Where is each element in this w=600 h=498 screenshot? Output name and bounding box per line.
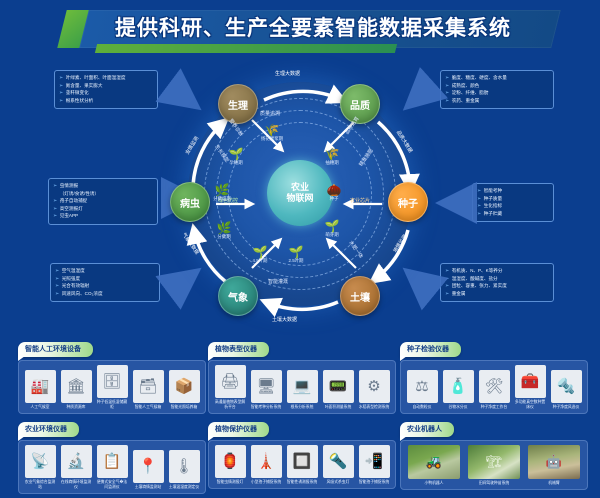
product-item[interactable]: 📟叶面积测量系统: [322, 370, 355, 410]
product-panel: 🏭人工气候室 🏛种质资源库 🗄种子低温低湿储藏柜 🗃智能人工气候箱 📦智能光照培…: [18, 360, 206, 414]
product-group-title: 植物表型仪器: [208, 342, 269, 357]
product-thumb: 📡: [25, 445, 56, 478]
product-thumb: 🧰: [515, 365, 546, 398]
node-weather[interactable]: 气象: [218, 276, 258, 316]
product-thumb: 🏭: [25, 370, 56, 403]
product-group-agri-robots: 农业机器人 🚜小鸭机器人 🏗田间驾驶种苗系统 🤖机械臂: [400, 418, 588, 490]
product-thumb: 🖨: [215, 365, 246, 398]
node-soil[interactable]: 土壤: [340, 276, 380, 316]
stage-label: 抽穗期: [325, 160, 338, 165]
flow-label-quality-trace: 质量追溯: [260, 110, 280, 117]
product-thumb: 🗄: [97, 365, 128, 398]
product-thumb: 🔬: [61, 445, 92, 478]
node-physiology[interactable]: 生理: [218, 84, 258, 124]
product-caption: 田间驾驶种苗系统: [467, 481, 521, 486]
product-group-title: 植物保护仪器: [208, 422, 269, 437]
product-caption: 水稻表型检测系统: [358, 405, 391, 410]
product-caption: 风吸式杀虫灯: [322, 480, 355, 485]
product-caption: 人工气候室: [24, 405, 57, 410]
product-item[interactable]: 🛠种子净度工作台: [478, 370, 511, 410]
product-caption: 智能人工气候箱: [132, 405, 165, 410]
stage-tillering-peak: 🌿 分蘖盛期: [202, 184, 242, 202]
product-caption: 智能光照培养箱: [168, 405, 201, 410]
product-item[interactable]: 🔩种子净度风选仪: [550, 370, 583, 410]
product-thumb: 📟: [323, 370, 354, 403]
product-item[interactable]: 🗄种子低温低湿储藏柜: [96, 365, 129, 410]
product-panel: 📡农业气象综合监测站 🔬在线墒情环境监测仪 📋便携式安全气�法问监测仪 📍土壤墒…: [18, 440, 206, 494]
product-thumb: 🗃: [133, 370, 164, 403]
product-caption: 机械臂: [527, 481, 581, 486]
product-item[interactable]: 🏗田间驾驶种苗系统: [467, 445, 521, 486]
product-thumb: 💻: [287, 370, 318, 403]
page-header: 提供科研、生产全要素智能数据采集系统: [0, 0, 600, 58]
product-thumb: 🏗: [468, 445, 520, 479]
product-panel: 🚜小鸭机器人 🏗田间驾驶种苗系统 🤖机械臂: [400, 440, 588, 490]
product-sections: 智能人工环境设备 🏭人工气候室 🏛种质资源库 🗄种子低温低湿储藏柜 🗃智能人工气…: [0, 334, 600, 498]
product-item[interactable]: 🚜小鸭机器人: [407, 445, 461, 486]
product-item[interactable]: 📡农业气象综合监测站: [24, 445, 57, 490]
product-thumb: 📲: [359, 445, 390, 478]
product-caption: 种子净度工作台: [478, 405, 511, 410]
stage-booting: 🌱 孕穗期: [216, 148, 256, 166]
plant-icon: 🌱: [216, 148, 256, 160]
product-thumb: 🗼: [251, 445, 282, 478]
plant-icon: 🌿: [204, 222, 244, 234]
stage-label: 分蘖盛期: [213, 196, 231, 201]
product-group-seed-testing: 种子检验仪器 ⚖自动数粒仪 🧴谷物水分仪 🛠种子净度工作台 🧰多功能真空数种置床…: [400, 338, 588, 414]
product-item[interactable]: 🤖机械臂: [527, 445, 581, 486]
product-caption: 谷物水分仪: [442, 405, 475, 410]
page-title: 提供科研、生产全要素智能数据采集系统: [0, 12, 600, 42]
product-thumb: 🔩: [551, 370, 582, 403]
product-thumb: 🔦: [323, 445, 354, 478]
stage-label: 孕穗期: [229, 160, 242, 165]
product-item[interactable]: 📋便携式安全气�法问监测仪: [96, 445, 129, 490]
product-thumb: 🏮: [215, 445, 246, 478]
product-item[interactable]: ⚖自动数粒仪: [406, 370, 439, 410]
product-item[interactable]: 🖥智能考种分析系统: [250, 370, 283, 410]
stage-label: 种子: [330, 196, 339, 201]
product-caption: 农业气象综合监测站: [24, 480, 57, 490]
stage-tillering: 🌿 分蘖期: [204, 222, 244, 240]
product-caption: 多功能真空数种置床仪: [514, 400, 547, 410]
stage-label: 萌芽期: [325, 232, 338, 237]
stage-label: 扬花灌浆期: [261, 136, 283, 141]
product-thumb: 🔲: [287, 445, 318, 478]
product-item[interactable]: 🔬在线墒情环境监测仪: [60, 445, 93, 490]
product-group-smart-environment: 智能人工环境设备 🏭人工气候室 🏛种质资源库 🗄种子低温低湿储藏柜 🗃智能人工气…: [18, 338, 206, 414]
flow-label-smart-irrigation: 智能灌溉: [268, 278, 288, 285]
product-item[interactable]: 📲智能孢子捕捉系统: [358, 445, 391, 485]
plant-icon: 🌿: [202, 184, 242, 196]
product-item[interactable]: 🏛种质资源库: [60, 370, 93, 410]
product-thumb: 🛠: [479, 370, 510, 403]
product-thumb: 🏛: [61, 370, 92, 403]
product-group-agri-environment: 农业环境仪器 📡农业气象综合监测站 🔬在线墒情环境监测仪 📋便携式安全气�法问监…: [18, 418, 206, 494]
product-item[interactable]: 🔲智能性诱测报系统: [286, 445, 319, 485]
plant-icon: 🌱: [240, 246, 280, 258]
product-caption: 种质资源库: [60, 405, 93, 410]
stage-25leaf: 🌱 2.5叶期: [276, 246, 316, 264]
arc-label-bottom: 土壤大数据: [272, 316, 297, 323]
product-thumb: 📍: [133, 450, 164, 483]
plant-icon: 🌰: [314, 184, 354, 196]
diagram-section: ➢叶绿素、叶面积、叶面温湿度 ➢氮含量、果实膨大 ➢茎秆微变化 ➢根系性状分析 …: [0, 58, 600, 333]
product-thumb: 🖥: [251, 370, 282, 403]
product-caption: 小鸭机器人: [407, 481, 461, 486]
product-caption: 小型孢子捕捉系统: [250, 480, 283, 485]
product-caption: 种子净度风选仪: [550, 405, 583, 410]
product-thumb: 🌡: [169, 450, 200, 483]
product-item[interactable]: 🗼小型孢子捕捉系统: [250, 445, 283, 485]
stage-45leaf: 🌱 4.5叶期: [240, 246, 280, 264]
stage-label: 2.5叶期: [289, 258, 304, 263]
product-thumb: 🧴: [443, 370, 474, 403]
stage-label: 4.5叶期: [253, 258, 268, 263]
stage-label: 分蘖期: [217, 234, 230, 239]
product-group-plant-phenotype: 植物表型仪器 🖨高通量植物表型解析平台 🖥智能考种分析系统 💻根系分析系统 📟叶…: [208, 338, 396, 414]
product-caption: 智能性诱测报系统: [286, 480, 319, 485]
product-thumb: ⚙: [359, 370, 390, 403]
product-caption: 叶面积测量系统: [322, 405, 355, 410]
product-caption: 土壤墒情监测站: [132, 485, 165, 490]
product-item[interactable]: 🔦风吸式杀虫灯: [322, 445, 355, 485]
node-seed[interactable]: 种子: [388, 182, 428, 222]
product-caption: 智能考种分析系统: [250, 405, 283, 410]
header-green-accent-bottom: [95, 44, 397, 53]
ecosystem-circle: 农业 物联网 生理 品质 种子 土壤 气象 病虫 生理大数据 土壤大数据 虫情监…: [160, 64, 440, 330]
product-item[interactable]: 🧰多功能真空数种置床仪: [514, 365, 547, 410]
product-caption: 根系分析系统: [286, 405, 319, 410]
product-panel: ⚖自动数粒仪 🧴谷物水分仪 🛠种子净度工作台 🧰多功能真空数种置床仪 🔩种子净度…: [400, 360, 588, 414]
product-caption: 智能虫情测报灯: [214, 480, 247, 485]
plant-icon: 🌱: [312, 220, 352, 232]
product-group-plant-protection: 植物保护仪器 🏮智能虫情测报灯 🗼小型孢子捕捉系统 🔲智能性诱测报系统 🔦风吸式…: [208, 418, 396, 489]
product-thumb: 📦: [169, 370, 200, 403]
stage-seed: 🌰 种子: [314, 184, 354, 202]
product-group-title: 种子检验仪器: [400, 342, 461, 357]
product-thumb: ⚖: [407, 370, 438, 403]
stage-heading: 🌾 抽穗期: [312, 148, 352, 166]
product-thumb: 📋: [97, 445, 128, 478]
product-item[interactable]: 📍土壤墒情监测站: [132, 450, 165, 490]
arc-label-top: 生理大数据: [275, 70, 300, 77]
product-group-title: 农业环境仪器: [18, 422, 79, 437]
product-item[interactable]: 💻根系分析系统: [286, 370, 319, 410]
product-item[interactable]: 🖨高通量植物表型解析平台: [214, 365, 247, 410]
product-thumb: 🤖: [528, 445, 580, 479]
product-caption: 自动数粒仪: [406, 405, 439, 410]
product-caption: 智能孢子捕捉系统: [358, 480, 391, 485]
stage-flowering: 🌾 扬花灌浆期: [252, 124, 292, 142]
core-label-line2: 物联网: [286, 193, 313, 204]
product-item[interactable]: ⚙水稻表型检测系统: [358, 370, 391, 410]
product-item[interactable]: 📦智能光照培养箱: [168, 370, 201, 410]
product-caption: 种子低温低湿储藏柜: [96, 400, 129, 410]
product-item[interactable]: 🧴谷物水分仪: [442, 370, 475, 410]
product-item[interactable]: 🗃智能人工气候箱: [132, 370, 165, 410]
product-panel: 🏮智能虫情测报灯 🗼小型孢子捕捉系统 🔲智能性诱测报系统 🔦风吸式杀虫灯 📲智能…: [208, 440, 396, 489]
plant-icon: 🌾: [312, 148, 352, 160]
plant-icon: 🌱: [276, 246, 316, 258]
product-caption: 便携式安全气�法问监测仪: [96, 480, 129, 490]
product-item[interactable]: 🏭人工气候室: [24, 370, 57, 410]
stage-germination: 🌱 萌芽期: [312, 220, 352, 238]
product-caption: 土壤温湿度测定仪: [168, 485, 201, 490]
product-item[interactable]: 🏮智能虫情测报灯: [214, 445, 247, 485]
product-caption: 高通量植物表型解析平台: [214, 400, 247, 410]
product-group-title: 农业机器人: [400, 422, 454, 437]
product-item[interactable]: 🌡土壤温湿度测定仪: [168, 450, 201, 490]
product-panel: 🖨高通量植物表型解析平台 🖥智能考种分析系统 💻根系分析系统 📟叶面积测量系统 …: [208, 360, 396, 414]
core-label-line1: 农业: [291, 182, 309, 193]
product-caption: 在线墒情环境监测仪: [60, 480, 93, 490]
product-group-title: 智能人工环境设备: [18, 342, 93, 357]
product-thumb: 🚜: [408, 445, 460, 479]
plant-icon: 🌾: [252, 124, 292, 136]
